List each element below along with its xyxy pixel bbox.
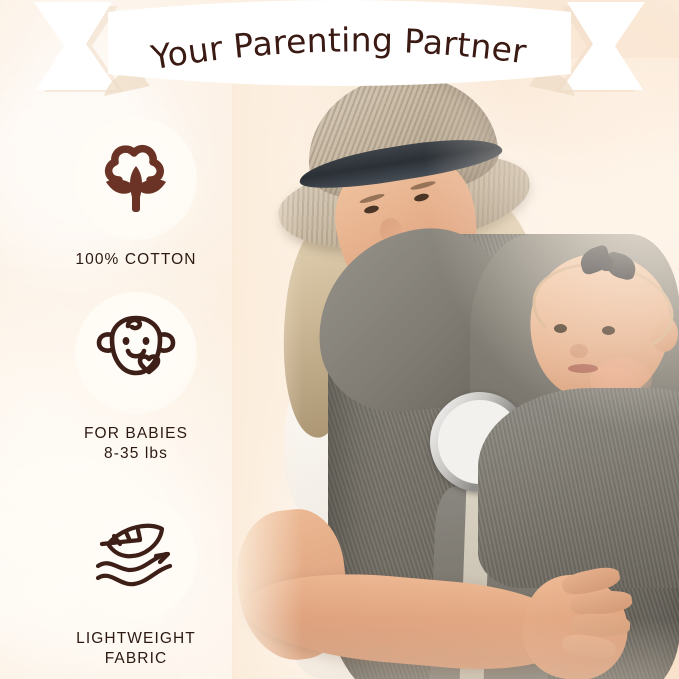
baby-mouth (568, 364, 598, 373)
sling-front-pouch (478, 388, 679, 588)
icon-disc (75, 497, 197, 619)
product-feature-image: Your Parenting Partner 100% COTTON (0, 0, 679, 679)
feature-cotton: 100% COTTON (18, 118, 254, 270)
feature-lightweight: LIGHTWEIGHT FABRIC (18, 497, 254, 670)
mother-and-baby-photo (232, 58, 679, 679)
finger (570, 613, 631, 637)
banner: Your Parenting Partner (0, 0, 679, 112)
baby-face-icon (92, 313, 180, 393)
bow-knot (600, 256, 613, 271)
banner-ribbon (0, 0, 679, 112)
feature-label: LIGHTWEIGHT FABRIC (18, 629, 254, 670)
icon-disc (75, 118, 197, 240)
feature-label: 100% COTTON (18, 250, 254, 270)
feature-babies: FOR BABIES 8-35 lbs (18, 292, 254, 465)
feature-label: FOR BABIES 8-35 lbs (18, 424, 254, 465)
cotton-boll-icon (93, 136, 179, 222)
feather-fabric-icon (90, 520, 182, 596)
icon-disc (75, 292, 197, 414)
